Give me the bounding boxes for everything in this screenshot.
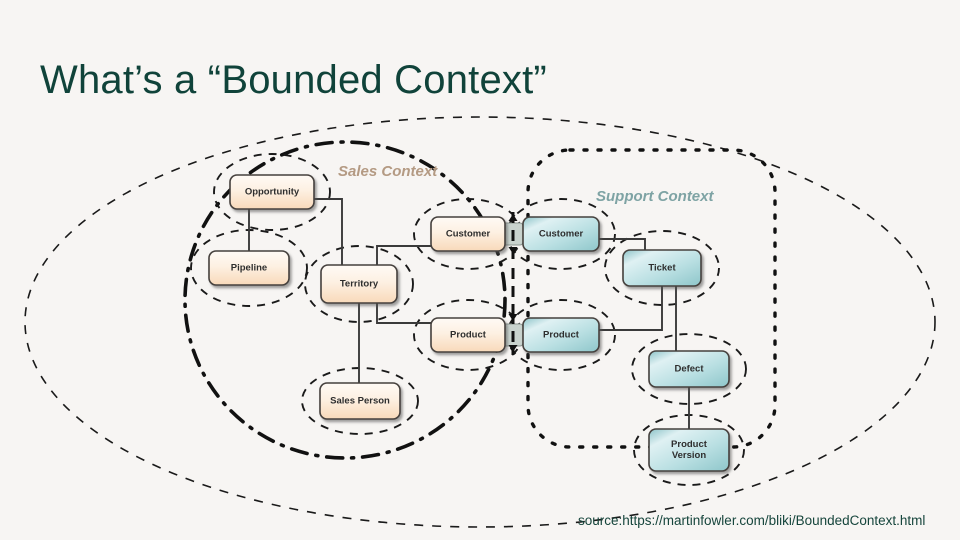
- bridge-arrow-customer-a: [509, 214, 518, 221]
- entity-label: Customer: [539, 229, 584, 240]
- entity-node-customer-support[interactable]: Customer: [523, 217, 599, 251]
- entity-node-territory[interactable]: Territory: [321, 265, 397, 303]
- entity-node-product-version[interactable]: ProductVersion: [649, 429, 729, 471]
- entity-label: Territory: [340, 279, 379, 290]
- entity-label: Product: [543, 330, 580, 341]
- entity-node-ticket[interactable]: Ticket: [623, 250, 701, 286]
- source-citation: source:https://martinfowler.com/bliki/Bo…: [578, 513, 925, 528]
- edge-territory-product: [377, 303, 431, 323]
- entity-node-product-sales[interactable]: Product: [431, 318, 505, 352]
- slide-canvas: What’s a “Bounded Context”: [0, 0, 960, 540]
- edge-opportunity-territory: [314, 199, 342, 265]
- entity-label: Product: [671, 439, 708, 450]
- sales-context-label: Sales Context: [338, 163, 438, 180]
- context-bridges: [503, 212, 523, 355]
- entity-node-opportunity[interactable]: Opportunity: [230, 175, 314, 209]
- entity-label: Ticket: [648, 263, 676, 274]
- entity-node-sales-person[interactable]: Sales Person: [320, 383, 400, 419]
- entity-node-customer-sales[interactable]: Customer: [431, 217, 505, 251]
- entity-label: Customer: [446, 229, 491, 240]
- entity-label: Product: [450, 330, 487, 341]
- entity-label: Version: [672, 450, 707, 461]
- entity-label: Pipeline: [231, 263, 267, 274]
- bounded-context-diagram: OpportunityPipelineTerritorySales Person…: [0, 0, 960, 540]
- entity-nodes: OpportunityPipelineTerritorySales Person…: [209, 175, 729, 471]
- bridge-arrow-product-a: [509, 314, 518, 321]
- entity-label: Opportunity: [245, 187, 300, 198]
- entity-node-pipeline[interactable]: Pipeline: [209, 251, 289, 285]
- entity-node-defect[interactable]: Defect: [649, 351, 729, 387]
- edge-product-support-ticket: [599, 286, 662, 330]
- support-context-label: Support Context: [596, 188, 714, 205]
- entity-node-product-support[interactable]: Product: [523, 318, 599, 352]
- entity-label: Sales Person: [330, 396, 390, 407]
- entity-label: Defect: [674, 364, 704, 375]
